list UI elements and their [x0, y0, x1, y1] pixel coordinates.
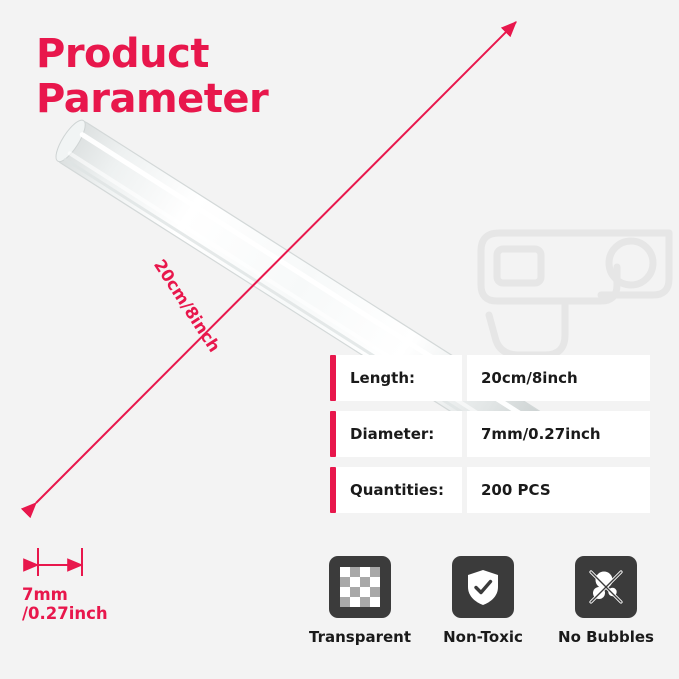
- diameter-dimension-label: 7mm /0.27inch: [22, 585, 108, 624]
- spec-value: 7mm/0.27inch: [467, 411, 650, 457]
- spec-key: Diameter:: [336, 411, 462, 457]
- shield-check-icon: [464, 567, 502, 607]
- spec-value: 200 PCS: [467, 467, 650, 513]
- page-title-line-2: Parameter: [36, 77, 376, 122]
- spec-key: Quantities:: [336, 467, 462, 513]
- feature-badge: [575, 556, 637, 618]
- spec-row-length: Length: 20cm/8inch: [330, 355, 650, 401]
- feature-label: Transparent: [308, 628, 412, 646]
- diameter-label-line-1: 7mm: [22, 585, 108, 604]
- feature-badge: [329, 556, 391, 618]
- spec-value: 20cm/8inch: [467, 355, 650, 401]
- feature-badge: [452, 556, 514, 618]
- feature-label: No Bubbles: [554, 628, 658, 646]
- spec-table: Length: 20cm/8inch Diameter: 7mm/0.27inc…: [330, 355, 650, 523]
- diameter-label-line-2: /0.27inch: [22, 604, 108, 623]
- page-title: Product Parameter: [36, 32, 376, 122]
- feature-non-toxic: Non-Toxic: [431, 556, 535, 646]
- page-title-line-1: Product: [36, 32, 376, 77]
- spec-row-quantities: Quantities: 200 PCS: [330, 467, 650, 513]
- spec-key: Length:: [336, 355, 462, 401]
- spec-row-diameter: Diameter: 7mm/0.27inch: [330, 411, 650, 457]
- feature-transparent: Transparent: [308, 556, 412, 646]
- feature-no-bubbles: No Bubbles: [554, 556, 658, 646]
- length-dimension-label: 20cm/8inch: [150, 256, 224, 356]
- product-parameter-infographic: Product Parameter: [0, 0, 679, 679]
- checkerboard-transparency-icon: [340, 567, 380, 607]
- feature-label: Non-Toxic: [431, 628, 535, 646]
- feature-list: Transparent Non-Toxic: [308, 556, 658, 646]
- no-bubbles-icon: [585, 566, 627, 608]
